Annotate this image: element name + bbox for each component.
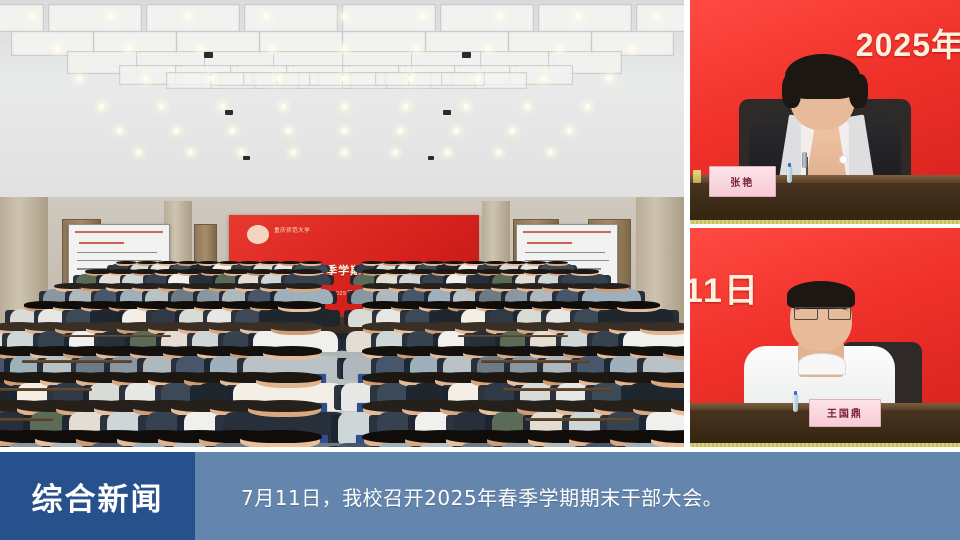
ceiling-downlight <box>291 150 296 155</box>
ceiling-downlight <box>77 76 83 82</box>
audience-member-hair <box>239 430 322 443</box>
dais-skirt <box>690 443 960 447</box>
ceiling-downlight <box>629 46 635 52</box>
ceiling-downlight <box>108 14 114 20</box>
ceiling-speaker-box <box>225 110 233 115</box>
ceiling-downlight <box>188 150 193 155</box>
slide-subheading-rule <box>79 242 124 244</box>
audience-desk <box>525 418 634 421</box>
water-bottle <box>787 166 792 183</box>
nameplate-bottom-right: 王国鼎 <box>809 399 881 427</box>
audience-member-hair <box>278 301 322 308</box>
ceiling-coffer <box>48 4 142 32</box>
ceiling-speaker-box <box>428 156 435 160</box>
audience-desk <box>458 335 567 337</box>
ceiling-downlight <box>541 76 547 82</box>
slide-heading-rule <box>75 231 162 233</box>
ceiling-coffer <box>0 4 44 32</box>
audience-member-hair <box>547 261 568 264</box>
audience-member-hair <box>293 269 322 274</box>
audience-member-hair <box>247 400 322 412</box>
slide-subheading-rule <box>527 242 572 244</box>
ceiling-downlight <box>126 46 132 52</box>
ceiling-downlight <box>186 14 192 20</box>
speaker-hair <box>787 281 855 309</box>
ceiling-downlight <box>576 14 582 20</box>
ceiling-downlight <box>55 46 61 52</box>
water-bottle <box>793 394 798 412</box>
ceiling-downlight <box>548 150 553 155</box>
ceiling-coffer <box>636 4 684 32</box>
ceiling-downlight <box>239 150 244 155</box>
ceiling-downlight <box>286 128 291 133</box>
ceiling-downlight <box>498 14 504 20</box>
ceiling-downlight <box>264 14 270 20</box>
audience-member-hair <box>570 269 599 274</box>
slide-heading-rule <box>523 231 610 233</box>
ceiling-downlight <box>524 104 529 109</box>
slide-line <box>525 252 604 254</box>
ceiling-downlight <box>474 76 480 82</box>
ceiling-downlight <box>342 14 348 20</box>
audience-member-hair <box>616 301 660 308</box>
ceiling-downlight <box>654 14 660 20</box>
university-crest-icon <box>247 225 269 244</box>
audience-desk <box>481 360 590 363</box>
slide-line <box>77 252 156 254</box>
ceiling-downlight <box>230 128 235 133</box>
audience-member-hair <box>262 346 322 356</box>
eyeglass-lens-right <box>828 307 852 320</box>
speaker-photo-top-right: 2025年 张艳 <box>690 0 960 224</box>
nameplate-top-right: 张艳 <box>709 166 776 197</box>
speaker-hair-side <box>849 74 868 108</box>
ceiling-downlight <box>403 104 408 109</box>
backdrop-school-name: 重庆师范大学 <box>274 226 310 234</box>
caption-text: 7月11日，我校召开2025年春季学期期末干部大会。 <box>241 482 723 511</box>
category-badge[interactable]: 综合新闻 <box>0 452 195 540</box>
audience-member-hair <box>301 261 322 264</box>
ceiling-speaker-box <box>243 156 250 160</box>
ceiling-speaker-box <box>204 52 213 58</box>
audience-member-hair <box>593 283 629 289</box>
ceiling-coffer <box>146 4 240 32</box>
shirt-collar <box>798 353 846 375</box>
ceiling-speaker-box <box>462 52 471 58</box>
audience-desk <box>0 418 53 421</box>
ceiling-downlight <box>413 46 419 52</box>
audience-member-hair <box>649 372 684 383</box>
photo-collage: 重庆师范大学 2025年春季学期期末干部大会 2025年7月11日 2025年 <box>0 0 960 447</box>
main-auditorium-photo: 重庆师范大学 2025年春季学期期末干部大会 2025年7月11日 <box>0 0 684 447</box>
ceiling-downlight <box>173 128 178 133</box>
ceiling-downlight <box>98 104 103 109</box>
dais-skirt <box>690 220 960 224</box>
caption-text-area: 7月11日，我校召开2025年春季学期期末干部大会。 <box>195 452 960 540</box>
microphone-icon <box>802 152 807 168</box>
speaker-photo-bottom-right: 11日 王国鼎 <box>690 228 960 447</box>
ceiling-coffer <box>440 4 534 32</box>
ceiling-downlight <box>567 128 572 133</box>
ceiling-downlight <box>30 14 36 20</box>
ceiling-downlight <box>420 14 426 20</box>
ceiling-downlight <box>485 46 491 52</box>
tea-cup <box>693 170 701 183</box>
ceiling-downlight <box>342 46 348 52</box>
eyeglass-lens-left <box>794 307 818 320</box>
audience-member-hair <box>285 283 321 289</box>
audience-desk <box>0 388 92 391</box>
backdrop-text-top: 2025年 <box>856 20 960 66</box>
audience-member-hair <box>639 322 684 330</box>
audience-member-hair <box>270 322 322 330</box>
ceiling-downlight <box>342 104 347 109</box>
ceiling-coffer <box>538 4 632 32</box>
news-image-card: 重庆师范大学 2025年春季学期期末干部大会 2025年7月11日 2025年 <box>0 0 960 540</box>
lapel-badge-icon <box>839 155 848 164</box>
ceiling-downlight <box>342 128 347 133</box>
audience-desk <box>62 335 171 337</box>
audience-desk <box>22 360 131 363</box>
ceiling-downlight <box>275 76 281 82</box>
ceiling-speaker-box <box>443 110 451 115</box>
ceiling-downlight <box>342 150 347 155</box>
ceiling-downlight <box>464 104 469 109</box>
ceiling-coffer <box>244 4 338 32</box>
ceiling-downlight <box>342 76 348 82</box>
category-label: 综合新闻 <box>32 474 164 519</box>
speaker-hair-side <box>782 74 801 108</box>
ceiling-downlight <box>445 150 450 155</box>
audience-seating <box>0 259 684 447</box>
caption-bar: 综合新闻 7月11日，我校召开2025年春季学期期末干部大会。 <box>0 452 960 540</box>
audience-desk <box>503 388 612 391</box>
backdrop-text-bottom: 11日 <box>690 263 760 312</box>
audience-member-hair <box>254 372 322 383</box>
